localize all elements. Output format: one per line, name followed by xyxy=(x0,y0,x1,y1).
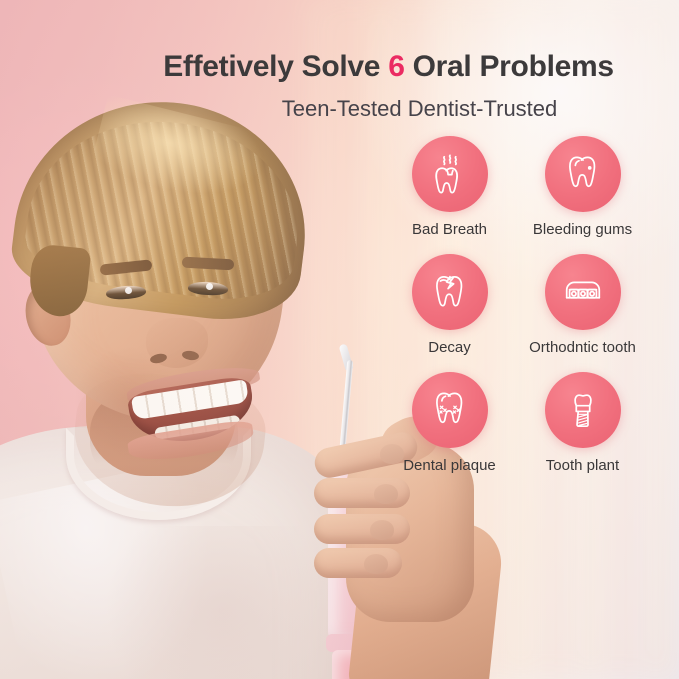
problem-item-decay[interactable]: Decay xyxy=(383,254,516,356)
headline-number: 6 xyxy=(388,50,404,83)
icon-circle xyxy=(545,136,621,212)
headline: Effetively Solve 6 Oral Problems xyxy=(0,50,679,84)
icon-circle xyxy=(545,372,621,448)
tooth-bad-breath-icon xyxy=(427,151,473,197)
icon-circle xyxy=(412,254,488,330)
problem-item-bad-breath[interactable]: Bad Breath xyxy=(383,136,516,238)
problem-label: Tooth plant xyxy=(546,457,619,474)
tooth-bleeding-gums-icon xyxy=(560,151,606,197)
promo-image-scene: VGT Effetively Solve 6 Oral Problems Tee… xyxy=(0,0,679,679)
problem-item-tooth-plant[interactable]: Tooth plant xyxy=(516,372,649,474)
braces-orthodontic-icon xyxy=(560,269,606,315)
icon-circle xyxy=(545,254,621,330)
problem-label: Decay xyxy=(428,339,471,356)
subheadline: Teen-Tested Dentist-Trusted xyxy=(0,96,679,122)
problem-item-orthodontic[interactable]: Orthodntic tooth xyxy=(516,254,649,356)
problem-item-bleeding-gums[interactable]: Bleeding gums xyxy=(516,136,649,238)
headline-before: Effetively Solve xyxy=(163,50,388,83)
problem-label: Dental plaque xyxy=(403,457,496,474)
headline-after: Oral Problems xyxy=(405,50,614,83)
problem-label: Bad Breath xyxy=(412,221,487,238)
dental-implant-icon xyxy=(560,387,606,433)
problem-label: Bleeding gums xyxy=(533,221,632,238)
problem-label: Orthodntic tooth xyxy=(529,339,636,356)
icon-circle xyxy=(412,136,488,212)
problems-grid: Bad Breath Bleeding gums xyxy=(383,136,649,474)
tooth-decay-cracked-icon xyxy=(427,269,473,315)
problem-item-dental-plaque[interactable]: Dental plaque xyxy=(383,372,516,474)
tooth-plaque-icon xyxy=(427,387,473,433)
icon-circle xyxy=(412,372,488,448)
